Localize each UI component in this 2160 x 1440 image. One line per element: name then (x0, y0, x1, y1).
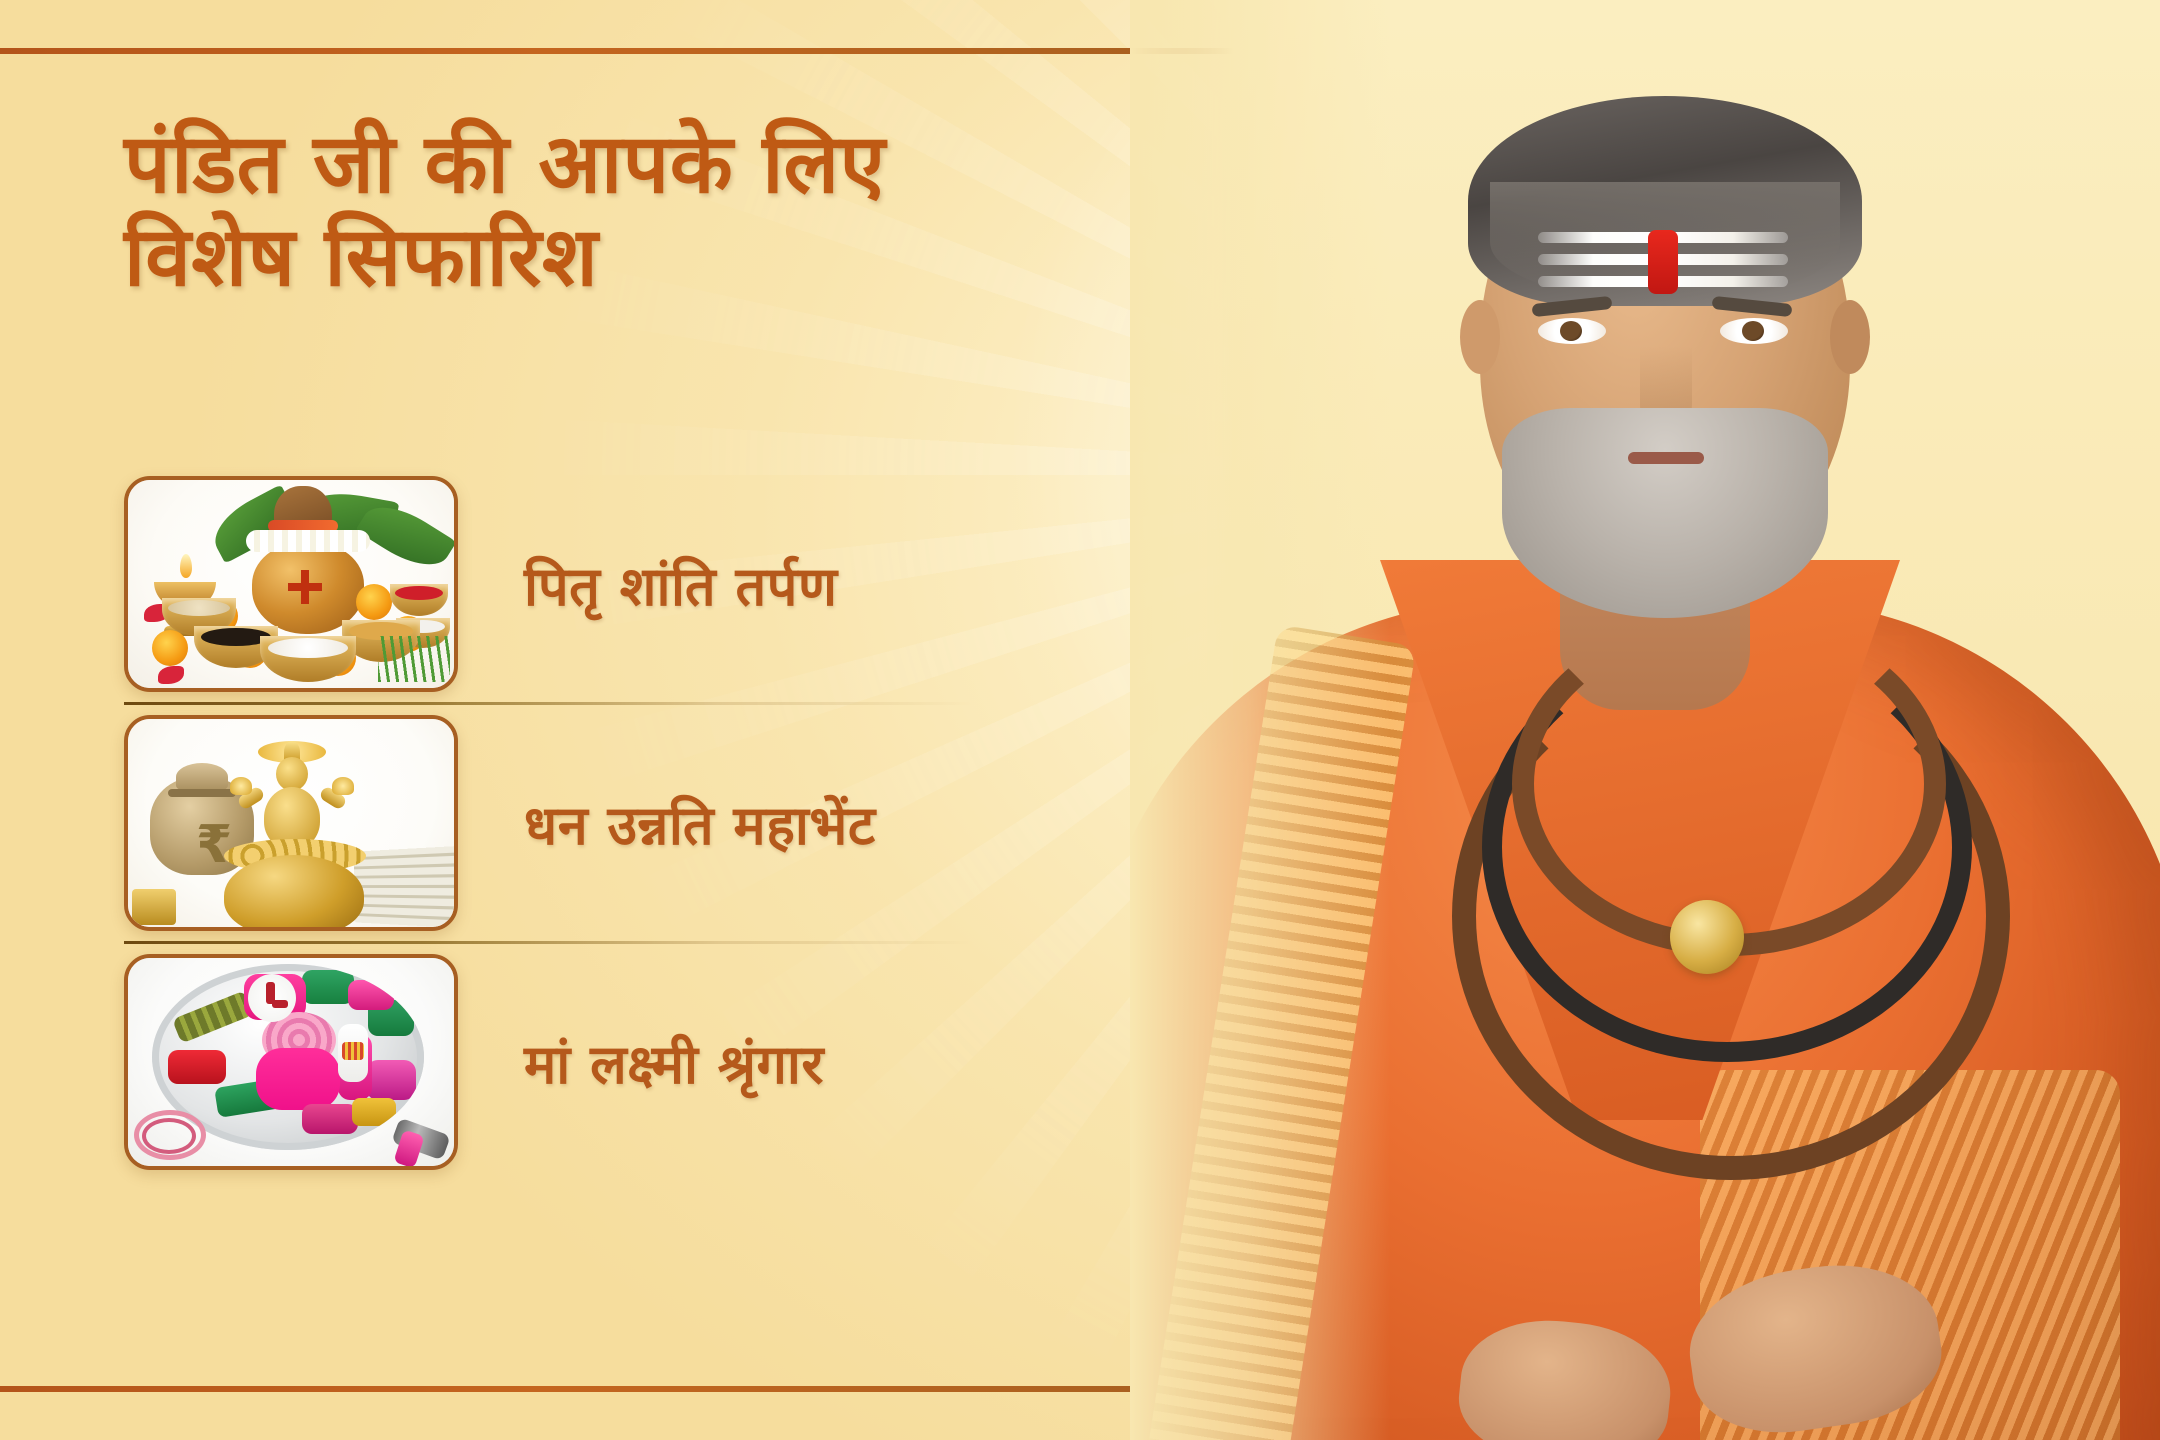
list-item-label: धन उन्नति महाभेंट (524, 786, 876, 860)
heading-line-2: विशेष सिफारिश (124, 211, 1244, 304)
shringar-thali-icon[interactable] (124, 954, 458, 1170)
eye-left (1538, 318, 1606, 344)
promo-banner: पंडित जी की आपके लिए विशेष सिफारिश पितृ … (0, 0, 2160, 1440)
ear-right (1830, 300, 1870, 374)
eye-right (1720, 318, 1788, 344)
gold-lakshmi-money-icon[interactable]: ₹ (124, 715, 458, 931)
heading-line-1: पंडित जी की आपके लिए (124, 118, 1244, 211)
recommendation-list: पितृ शांति तर्पण ₹ धन उन्नति म (124, 466, 1264, 1180)
pandit-portrait (1130, 0, 2160, 1440)
list-item[interactable]: मां लक्ष्मी श्रृंगार (124, 944, 1264, 1180)
gold-pendant-icon (1670, 900, 1744, 974)
list-item[interactable]: ₹ धन उन्नति महाभेंट (124, 705, 1264, 941)
rudraksha-mala-short-icon (1512, 612, 1946, 956)
puja-thali-kalash-icon[interactable] (124, 476, 458, 692)
red-tilak-icon (1648, 230, 1678, 294)
page-title: पंडित जी की आपके लिए विशेष सिफारिश (124, 118, 1244, 305)
ear-left (1460, 300, 1500, 374)
grey-beard (1502, 408, 1828, 618)
mouth (1628, 452, 1704, 464)
list-item[interactable]: पितृ शांति तर्पण (124, 466, 1264, 702)
list-item-label: मां लक्ष्मी श्रृंगार (524, 1025, 824, 1099)
list-item-label: पितृ शांति तर्पण (524, 547, 838, 621)
